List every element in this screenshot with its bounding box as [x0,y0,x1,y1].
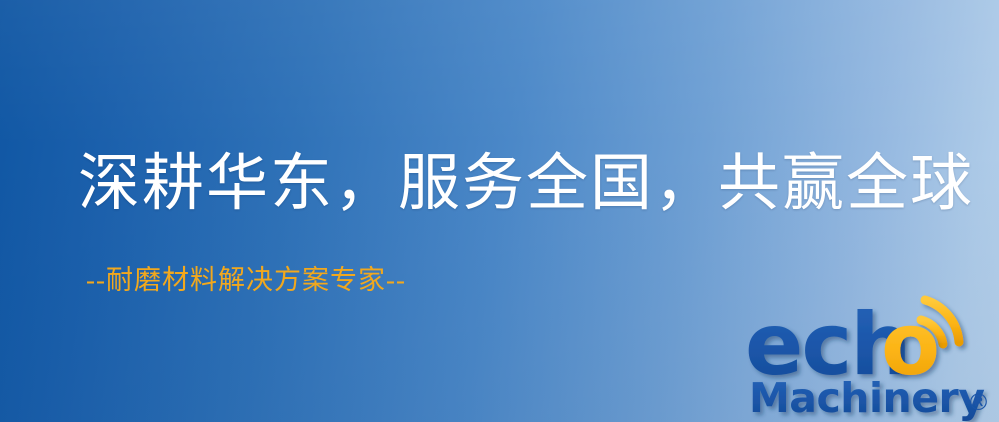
logo-wordmark-secondary: Machinery [749,374,984,422]
logo-registered-mark: ® [967,390,990,416]
echo-machinery-logo[interactable]: ech o Machinery ® [745,292,999,422]
promo-banner: 深耕华东，服务全国，共赢全球 --耐磨材料解决方案专家-- [0,0,999,422]
banner-headline: 深耕华东，服务全国，共赢全球 [78,152,974,217]
banner-subtitle: --耐磨材料解决方案专家-- [86,266,406,296]
